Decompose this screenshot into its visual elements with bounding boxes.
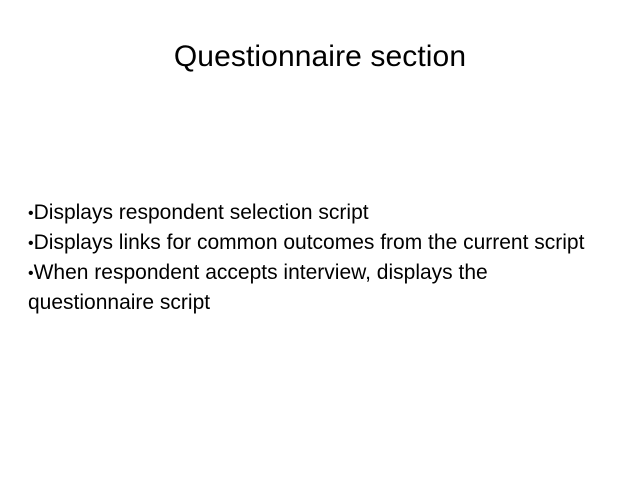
list-item-label: Displays respondent selection script <box>34 201 369 224</box>
list-item: •Displays respondent selection script <box>28 198 606 228</box>
bullet-list: •Displays respondent selection script •D… <box>28 198 606 317</box>
list-item-label: When respondent accepts interview, displ… <box>28 261 488 314</box>
list-item-label: Displays links for common outcomes from … <box>34 231 585 254</box>
page-title: Questionnaire section <box>0 38 640 76</box>
slide-canvas: Questionnaire section •Displays responde… <box>0 0 640 480</box>
list-item: •When respondent accepts interview, disp… <box>28 258 606 317</box>
list-item: •Displays links for common outcomes from… <box>28 228 606 258</box>
